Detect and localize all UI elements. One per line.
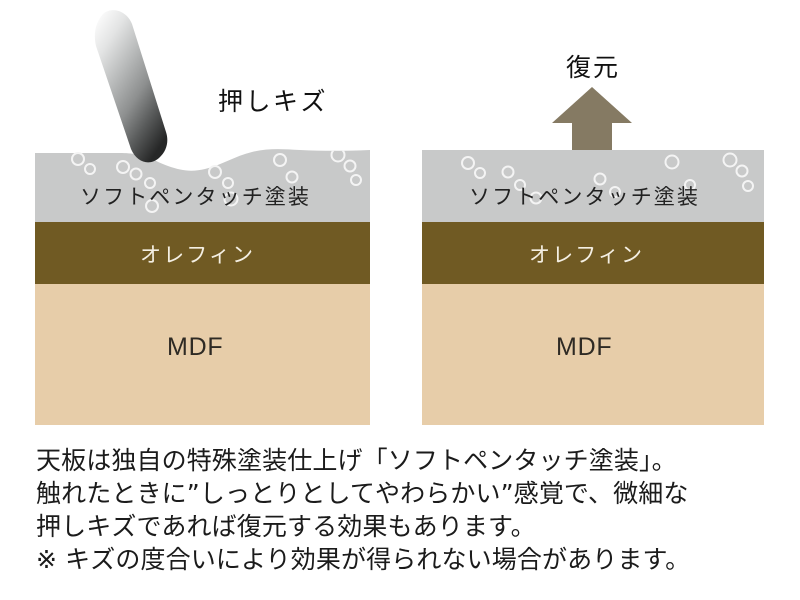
layer-core-left <box>35 284 370 425</box>
layer-core-right <box>422 284 764 425</box>
stylus-pen-icon <box>95 10 167 162</box>
figure-root: 押しキズ 復元 ソフトペンタッチ塗装 オレフィン MDF ソフトペンタッチ塗装 … <box>0 0 800 600</box>
caption-line-2: 触れたときに”しっとりとしてやわらかい”感覚で、微細な <box>36 477 776 510</box>
caption-line-3: 押しキズであれば復元する効果もあります。 <box>36 510 776 543</box>
panel-damaged <box>35 10 370 425</box>
caption-line-4: ※ キズの度合いにより効果が得られない場合があります。 <box>36 543 776 576</box>
cross-section-diagram: 押しキズ 復元 ソフトペンタッチ塗装 オレフィン MDF ソフトペンタッチ塗装 … <box>0 0 800 440</box>
caption-line-1: 天板は独自の特殊塗装仕上げ「ソフトペンタッチ塗装」。 <box>36 444 776 477</box>
layer-olefin-right <box>422 222 764 284</box>
layer-olefin-left <box>35 222 370 284</box>
diagram-canvas <box>0 0 800 440</box>
layer-coating-left <box>35 149 370 222</box>
panel-restored <box>422 87 764 425</box>
caption-block: 天板は独自の特殊塗装仕上げ「ソフトペンタッチ塗装」。 触れたときに”しっとりとし… <box>36 444 776 576</box>
up-arrow-icon <box>552 87 632 150</box>
